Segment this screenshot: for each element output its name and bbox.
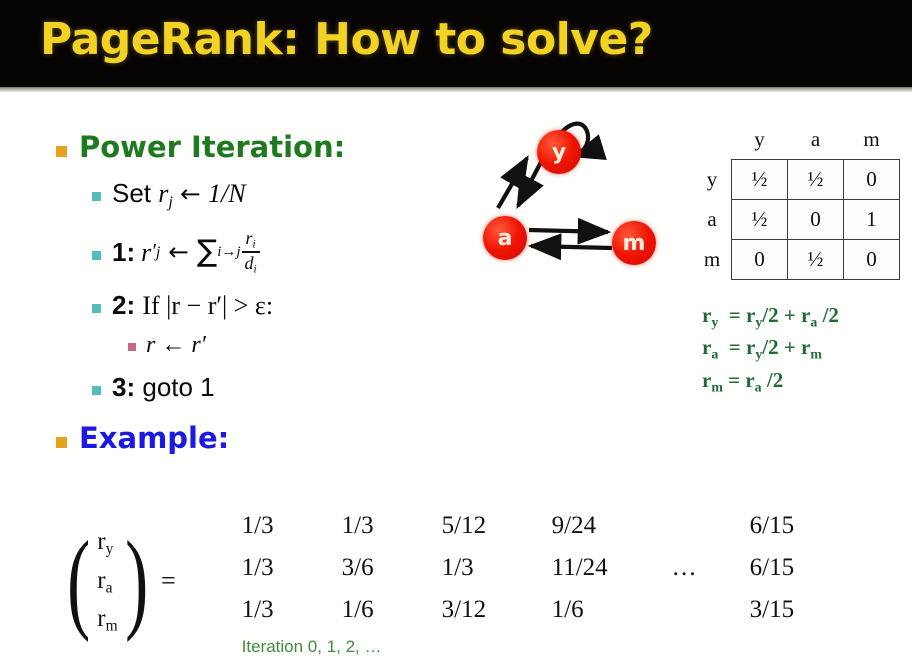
table-row: y ½ ½ 0 (700, 160, 900, 200)
iter-r0-c0: 1/3 (242, 505, 342, 547)
step-set-var: r (158, 179, 168, 208)
rank-vector: ( ry ra rm ) = (60, 523, 190, 639)
step-3-text: goto 1 (142, 372, 214, 402)
table-row: m 0 ½ 0 (700, 240, 900, 280)
step-2-formula: 2: If |r − r′| > ε: (112, 290, 273, 321)
left-arrow-icon: ← (168, 237, 189, 267)
row-header-y: y (700, 160, 732, 200)
graph-node-m[interactable]: m (612, 221, 656, 265)
outline: Power Iteration: Set rj ← 1/N 1: r′j ← ∑… (0, 100, 470, 455)
step-1-sum-subscript: i→j (217, 243, 240, 261)
graph-node-y[interactable]: y (537, 130, 581, 174)
cell-a-y: ½ (732, 200, 788, 240)
fraction-numerator: ri (243, 229, 259, 251)
step-1-formula: 1: r′j ← ∑i→j ri di (112, 229, 261, 276)
iter-r1-c2: 1/3 (442, 547, 552, 589)
step-set-value: 1/N (208, 179, 246, 208)
graph-node-m-label: m (623, 231, 646, 256)
square-bullet-icon (92, 251, 101, 260)
flow-equation-rm: rm = ra /2 (702, 365, 839, 397)
fraction-denominator: di (242, 254, 260, 276)
table-header-row: y a m (700, 120, 900, 160)
left-paren-icon: ( (67, 533, 90, 629)
adjacency-matrix-table: y a m y ½ ½ 0 a ½ 0 1 m 0 ½ 0 (700, 120, 900, 280)
iter-r1-c3: 11/24 (552, 547, 672, 589)
step-3-prefix: 3: (112, 372, 135, 402)
vector-entry-rm: rm (97, 600, 117, 639)
bullet-step-3: 3: goto 1 (92, 372, 470, 403)
right-paren-icon: ) (125, 533, 148, 629)
rank-vector-entries: ry ra rm (97, 523, 117, 639)
iter-r2-c4 (672, 589, 750, 631)
step-set-sub: j (168, 194, 172, 211)
cell-y-a: ½ (788, 160, 844, 200)
cell-y-y: ½ (732, 160, 788, 200)
table-row: a ½ 0 1 (700, 200, 900, 240)
iter-r0-c1: 1/3 (342, 505, 442, 547)
corner-cell (700, 120, 732, 160)
step-assign-text: r ← r′ (146, 331, 206, 360)
step-1-sub: j (156, 243, 160, 262)
flow-equations: ry = ry/2 + ra /2 ra = ry/2 + rm rm = ra… (702, 300, 839, 397)
iter-r1-c5: 6/15 (750, 547, 840, 589)
web-graph-diagram: y a m (455, 96, 685, 281)
iteration-example: ( ry ra rm ) = 1/3 1/3 5/12 9/24 6/15 (60, 505, 840, 657)
iter-r2-c5: 3/15 (750, 589, 840, 631)
square-bullet-icon (92, 304, 101, 313)
vector-entry-ry: ry (97, 523, 117, 562)
cell-y-m: 0 (844, 160, 900, 200)
equals-sign: = (161, 566, 176, 596)
row-header-m: m (700, 240, 732, 280)
square-bullet-icon (56, 437, 67, 448)
iteration-values-table: 1/3 1/3 5/12 9/24 6/15 1/3 3/6 1/3 11/24… (242, 505, 840, 657)
vector-entry-ra: ra (97, 562, 117, 601)
iter-r1-c1: 3/6 (342, 547, 442, 589)
iter-r2-c3: 1/6 (552, 589, 672, 631)
power-iteration-label: Power Iteration: (79, 130, 345, 164)
iter-r2-c0: 1/3 (242, 589, 342, 631)
col-header-m: m (844, 120, 900, 160)
col-header-a: a (788, 120, 844, 160)
bullet-step-set: Set rj ← 1/N (92, 178, 470, 213)
slide: PageRank: How to solve? Power Iteration:… (0, 0, 912, 660)
iteration-caption: Iteration 0, 1, 2, … (242, 631, 840, 657)
bullet-power-iteration: Power Iteration: (56, 130, 470, 164)
iter-r0-c3: 9/24 (552, 505, 672, 547)
cell-a-m: 1 (844, 200, 900, 240)
bullet-step-2: 2: If |r − r′| > ε: (92, 290, 470, 321)
square-bullet-icon (92, 192, 101, 201)
cell-m-m: 0 (844, 240, 900, 280)
left-arrow-icon: ← (180, 179, 201, 208)
graph-node-a[interactable]: a (483, 216, 527, 260)
table-row: 1/3 3/6 1/3 11/24 … 6/15 (242, 547, 840, 589)
graph-node-y-label: y (552, 140, 566, 165)
iter-r2-c1: 1/6 (342, 589, 442, 631)
square-bullet-icon (128, 343, 136, 351)
step-3-formula: 3: goto 1 (112, 372, 215, 403)
cell-m-y: 0 (732, 240, 788, 280)
square-bullet-icon (56, 146, 67, 157)
step-1-fraction: ri di (242, 229, 260, 276)
bullet-step-1: 1: r′j ← ∑i→j ri di (92, 229, 470, 276)
iter-r1-c0: 1/3 (242, 547, 342, 589)
bullet-example: Example: (56, 421, 470, 455)
iter-r2-c2: 3/12 (442, 589, 552, 631)
row-header-a: a (700, 200, 732, 240)
square-bullet-icon (92, 386, 101, 395)
step-1-prefix: 1: (112, 237, 135, 268)
example-label: Example: (79, 421, 229, 455)
iter-r0-c2: 5/12 (442, 505, 552, 547)
col-header-y: y (732, 120, 788, 160)
cell-a-a: 0 (788, 200, 844, 240)
summation-icon: ∑ (197, 240, 217, 264)
step-2-prefix: 2: (112, 290, 135, 320)
iter-r0-c4 (672, 505, 750, 547)
step-1-var: r (141, 237, 151, 268)
graph-node-a-label: a (498, 226, 513, 251)
cell-m-a: ½ (788, 240, 844, 280)
table-row: 1/3 1/3 5/12 9/24 6/15 (242, 505, 840, 547)
page-title: PageRank: How to solve? (40, 14, 653, 65)
edge-a-to-m (529, 230, 608, 232)
step-2-text: If |r − r′| > ε: (142, 291, 273, 320)
iter-r0-c5: 6/15 (750, 505, 840, 547)
table-row: 1/3 1/6 3/12 1/6 3/15 (242, 589, 840, 631)
title-divider (0, 87, 912, 92)
flow-equation-ra: ra = ry/2 + rm (702, 332, 839, 364)
step-set-formula: Set rj ← 1/N (112, 178, 246, 213)
step-set-prefix: Set (112, 178, 158, 208)
bullet-step-assign: r ← r′ (128, 331, 470, 360)
iter-ellipsis: … (672, 547, 750, 589)
edge-m-to-a (531, 246, 612, 248)
flow-equation-ry: ry = ry/2 + ra /2 (702, 300, 839, 332)
